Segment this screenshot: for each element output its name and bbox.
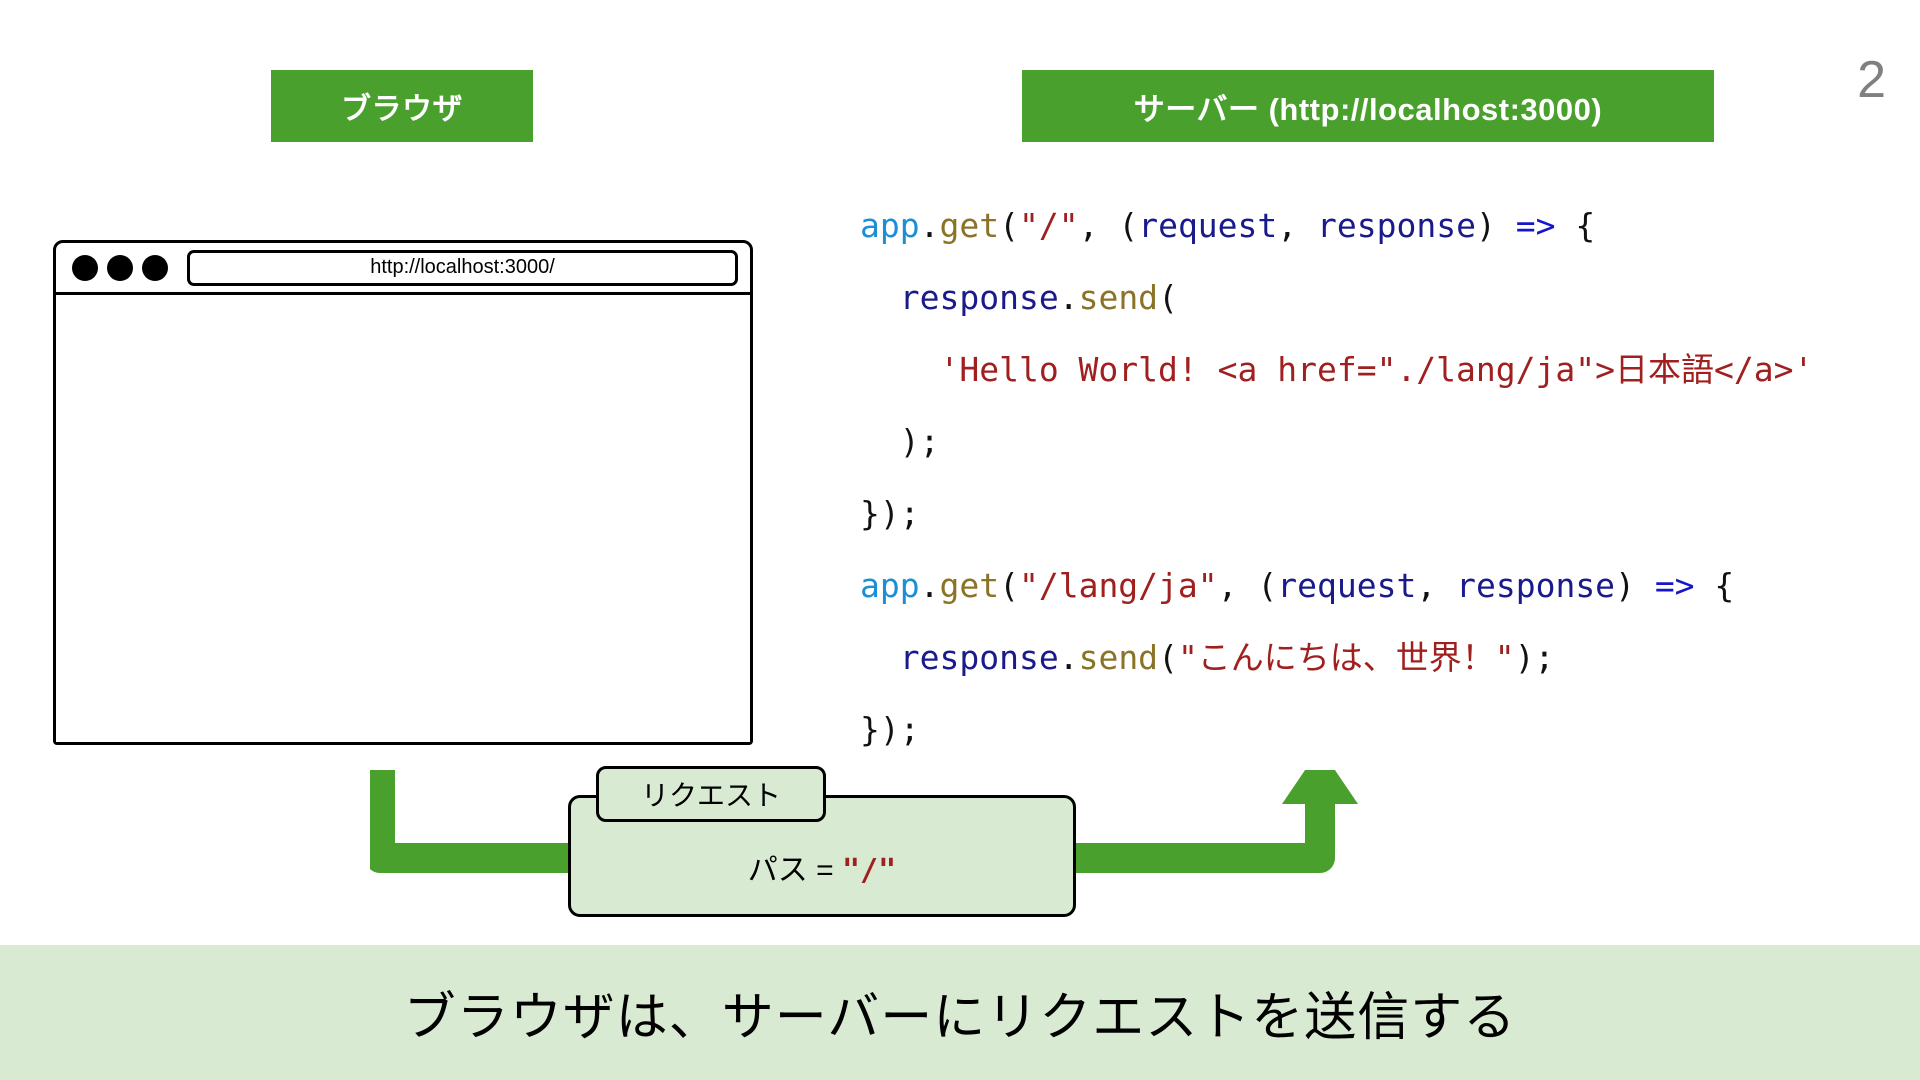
code-line: app.get("/lang/ja", (request, response) …: [860, 550, 1890, 622]
code-token-fn: send: [1079, 278, 1158, 317]
code-token-punc: .: [1059, 278, 1079, 317]
code-token-punc: ): [1615, 566, 1635, 605]
code-token-punc: ): [1476, 206, 1496, 245]
code-token-str: 'Hello World! <a href="./lang/ja">日本語</a…: [939, 350, 1813, 389]
maximize-dot-icon[interactable]: [142, 255, 168, 281]
code-token-punc: [1496, 206, 1516, 245]
browser-chrome: http://localhost:3000/: [56, 243, 750, 295]
code-token-arrow: =>: [1516, 206, 1556, 245]
code-token-punc: ,: [1079, 206, 1119, 245]
code-token-punc: );: [1515, 638, 1555, 677]
server-code-block: app.get("/", (request, response) => { re…: [860, 190, 1890, 766]
code-token-obj: app: [860, 566, 920, 605]
code-token-punc: {: [1695, 566, 1735, 605]
request-path-value: "/": [842, 853, 896, 888]
code-token-punc: (: [1257, 566, 1277, 605]
code-indent: [860, 278, 900, 317]
code-token-param: request: [1138, 206, 1277, 245]
caption-text: ブラウザは、サーバーにリクエストを送信する: [404, 975, 1516, 1050]
server-header-label: サーバー (http://localhost:3000): [1134, 84, 1602, 129]
code-token-punc: (: [1158, 638, 1178, 677]
code-token-punc: });: [860, 494, 920, 533]
browser-window-mock: http://localhost:3000/: [53, 240, 753, 745]
code-token-param: request: [1277, 566, 1416, 605]
code-line: });: [860, 694, 1890, 766]
code-token-punc: ,: [1277, 206, 1317, 245]
request-callout-tab-label: リクエスト: [641, 774, 781, 814]
close-dot-icon[interactable]: [72, 255, 98, 281]
code-indent: [860, 422, 900, 461]
browser-header-label: ブラウザ: [341, 84, 463, 128]
code-token-punc: (: [999, 206, 1019, 245]
address-bar-input[interactable]: http://localhost:3000/: [187, 250, 738, 286]
code-token-punc: [1635, 566, 1655, 605]
code-line: });: [860, 478, 1890, 550]
code-token-punc: ,: [1416, 566, 1456, 605]
code-token-str: "/lang/ja": [1019, 566, 1218, 605]
code-token-punc: (: [999, 566, 1019, 605]
code-token-punc: (: [1158, 278, 1178, 317]
code-token-str: "こんにちは、世界！": [1178, 638, 1515, 677]
request-callout-tab: リクエスト: [596, 766, 826, 822]
code-line: app.get("/", (request, response) => {: [860, 190, 1890, 262]
request-path-label: パス =: [748, 854, 842, 887]
code-line: response.send("こんにちは、世界！");: [860, 622, 1890, 694]
code-token-punc: ,: [1218, 566, 1258, 605]
code-token-punc: (: [1118, 206, 1138, 245]
code-token-param: response: [1456, 566, 1615, 605]
minimize-dot-icon[interactable]: [107, 255, 133, 281]
code-token-fn: send: [1079, 638, 1158, 677]
code-token-punc: {: [1555, 206, 1595, 245]
code-token-punc: .: [920, 206, 940, 245]
page-number: 2: [1857, 54, 1886, 106]
code-token-punc: .: [920, 566, 940, 605]
code-token-param: response: [900, 278, 1059, 317]
request-callout-body: パス = "/": [748, 823, 896, 889]
code-line: );: [860, 406, 1890, 478]
code-token-punc: .: [1059, 638, 1079, 677]
arrow-head: [1282, 770, 1358, 804]
code-indent: [860, 350, 939, 389]
code-token-param: response: [900, 638, 1059, 677]
code-token-punc: );: [900, 422, 940, 461]
browser-viewport: [56, 295, 750, 742]
code-token-arrow: =>: [1655, 566, 1695, 605]
caption-bar: ブラウザは、サーバーにリクエストを送信する: [0, 945, 1920, 1080]
code-token-obj: app: [860, 206, 920, 245]
server-header-chip: サーバー (http://localhost:3000): [1022, 70, 1714, 142]
code-indent: [860, 638, 900, 677]
code-token-punc: });: [860, 710, 920, 749]
code-line: 'Hello World! <a href="./lang/ja">日本語</a…: [860, 334, 1890, 406]
browser-header-chip: ブラウザ: [271, 70, 533, 142]
code-token-fn: get: [939, 206, 999, 245]
address-bar-value: http://localhost:3000/: [370, 256, 555, 279]
code-token-param: response: [1317, 206, 1476, 245]
code-token-str: "/": [1019, 206, 1079, 245]
code-line: response.send(: [860, 262, 1890, 334]
code-token-fn: get: [939, 566, 999, 605]
